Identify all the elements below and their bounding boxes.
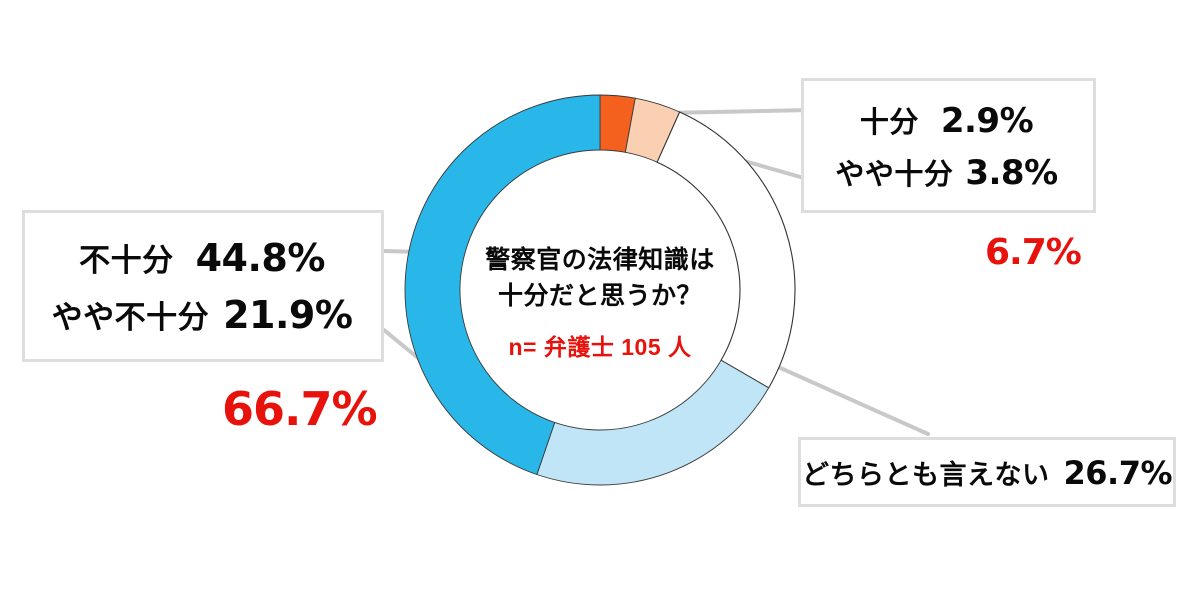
callout-row-somewhat-insufficient: やや不十分 21.9%: [35, 292, 369, 337]
slice-somewhat-insufficient[interactable]: [537, 360, 769, 485]
callout-label-insufficient: 不十分: [79, 235, 174, 280]
callout-label-somewhat-sufficient: やや十分: [835, 151, 953, 193]
callout-row-sufficient: 十分 2.9%: [818, 99, 1075, 141]
callout-label-sufficient: 十分: [860, 99, 919, 141]
callout-value-neither: 26.7%: [1064, 454, 1173, 492]
callout-label-neither: どちらとも言えない: [802, 453, 1050, 492]
callout-row-insufficient: 不十分 44.8%: [35, 235, 369, 280]
callout-value-somewhat-sufficient: 3.8%: [965, 153, 1057, 193]
callout-value-somewhat-insufficient: 21.9%: [223, 293, 352, 337]
callout-value-sufficient: 2.9%: [941, 101, 1033, 141]
total-sufficient: 6.7%: [985, 232, 1081, 273]
slice-neither[interactable]: [657, 112, 795, 388]
callout-row-somewhat-sufficient: やや十分 3.8%: [818, 151, 1075, 193]
callout-row-neither: どちらとも言えない 26.7%: [811, 453, 1163, 492]
leader-line-neither: [767, 362, 928, 434]
callout-box-neither[interactable]: どちらとも言えない 26.7%: [798, 437, 1176, 507]
total-insufficient: 66.7%: [222, 382, 377, 436]
callout-box-insufficient[interactable]: 不十分 44.8% やや不十分 21.9%: [22, 210, 384, 362]
callout-label-somewhat-insufficient: やや不十分: [52, 292, 210, 337]
donut-chart-figure: 警察官の法律知識は 十分だと思うか？ n= 弁護士 105 人 十分 2.9% …: [0, 0, 1200, 600]
callout-value-insufficient: 44.8%: [196, 236, 325, 280]
donut-slices: [405, 95, 795, 485]
slice-insufficient[interactable]: [405, 95, 600, 475]
callout-box-sufficient[interactable]: 十分 2.9% やや十分 3.8%: [801, 78, 1096, 213]
